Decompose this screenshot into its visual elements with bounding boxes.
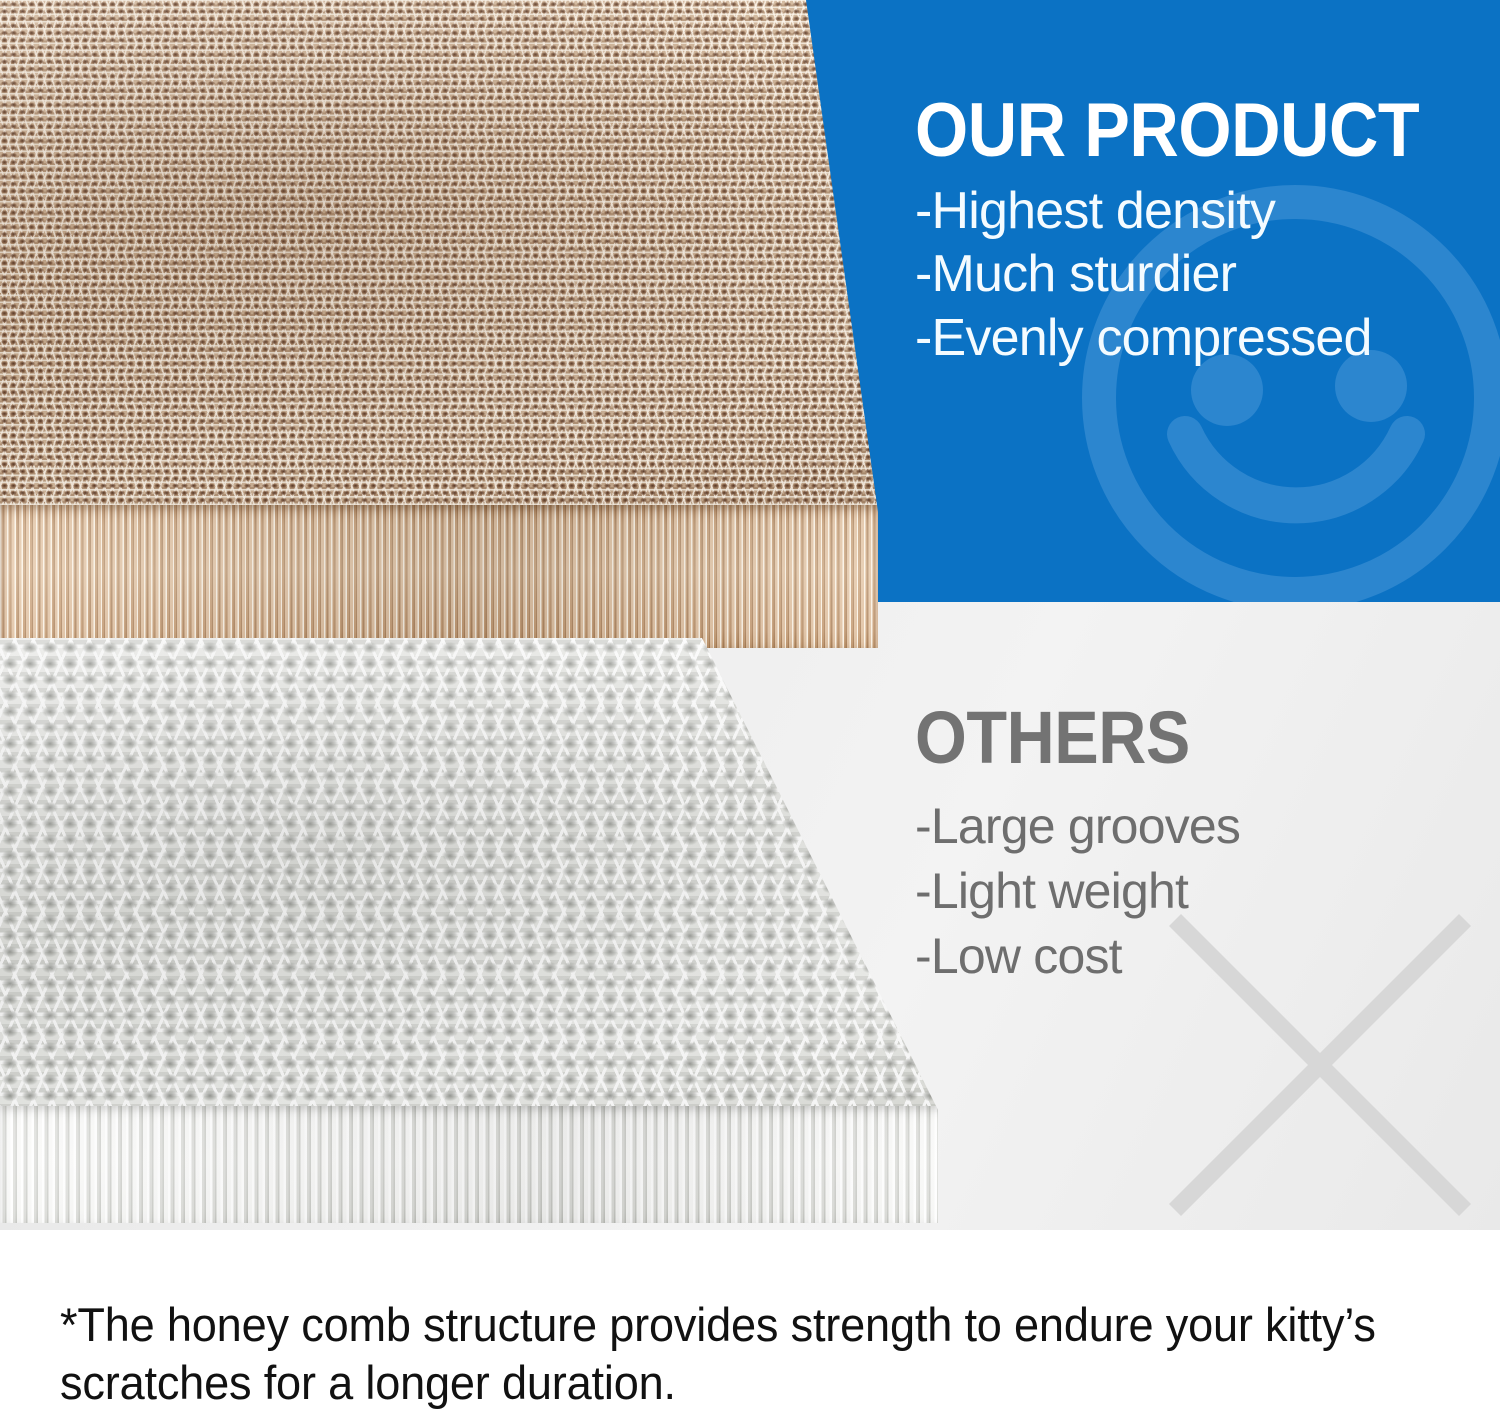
our-product-text-block: OUR PRODUCT -Highest density -Much sturd… [915,96,1490,370]
others-text-block: OTHERS -Large grooves -Light weight -Low… [915,704,1490,989]
our-product-heading: OUR PRODUCT [915,96,1433,166]
our-product-bullet-1: -Highest density [915,180,1490,243]
tan-corrugated-board-photo [0,0,880,648]
others-bullet-3: -Low cost [915,924,1490,989]
our-product-bullet-3: -Evenly compressed [915,307,1490,370]
footnote-text: *The honey comb structure provides stren… [60,1296,1404,1413]
others-bullet-2: -Light weight [915,859,1490,924]
others-bullet-1: -Large grooves [915,794,1490,859]
white-board-cut-edge [0,1106,960,1223]
tan-board-cut-edge [0,505,880,648]
others-heading: OTHERS [915,704,1433,772]
others-bullet-list: -Large grooves -Light weight -Low cost [915,794,1490,989]
our-product-bullet-2: -Much sturdier [915,243,1490,306]
tan-board-honeycomb-face [0,0,880,512]
infographic-canvas: OUR PRODUCT -Highest density -Much sturd… [0,0,1500,1425]
our-product-bullet-list: -Highest density -Much sturdier -Evenly … [915,180,1490,370]
